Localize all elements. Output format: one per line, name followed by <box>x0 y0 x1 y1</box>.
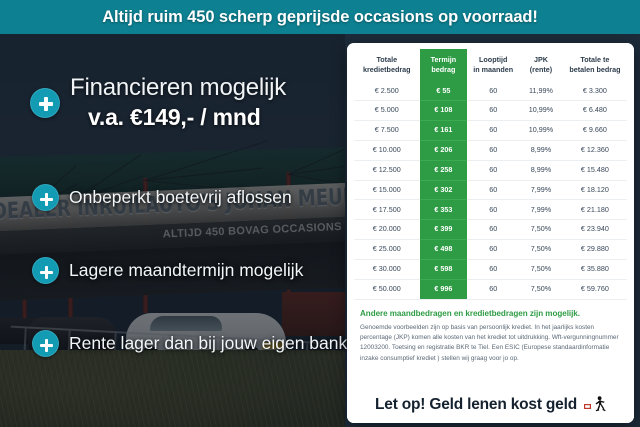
cell-totaal: € 23.940 <box>563 220 627 240</box>
table-row: € 7.500€ 1616010,99%€ 9.660 <box>354 121 627 141</box>
table-row: € 5.000€ 1086010,99%€ 6.480 <box>354 101 627 121</box>
cell-looptijd: 60 <box>467 240 519 260</box>
table-row: € 25.000€ 498607,50%€ 29.880 <box>354 240 627 260</box>
cell-looptijd: 60 <box>467 81 519 100</box>
cell-krediet: € 30.000 <box>354 259 420 279</box>
table-row: € 30.000€ 598607,50%€ 35.880 <box>354 259 627 279</box>
cell-jpk: 7,50% <box>519 279 563 299</box>
advertisement-banner: Altijd ruim 450 scherp geprijsde occasio… <box>0 0 640 427</box>
feature-bullet-label: Rente lager dan bij jouw eigen bank <box>69 333 347 354</box>
cell-krediet: € 2.500 <box>354 81 420 100</box>
loan-table: Totale kredietbedrag Termijn bedrag Loop… <box>354 49 627 300</box>
cell-krediet: € 50.000 <box>354 279 420 299</box>
cell-termijn: € 353 <box>420 200 468 220</box>
cell-jpk: 7,50% <box>519 259 563 279</box>
feature-bullet-list: Financieren mogelijk v.a. €149,- / mnd O… <box>0 34 350 427</box>
col-header-totaal: Totale te betalen bedrag <box>563 49 627 81</box>
cell-krediet: € 25.000 <box>354 240 420 260</box>
feature-bullet-label: Lagere maandtermijn mogelijk <box>69 260 303 281</box>
feature-bullet-item: Lagere maandtermijn mogelijk <box>32 257 303 284</box>
cell-termijn: € 258 <box>420 160 468 180</box>
cell-termijn: € 498 <box>420 240 468 260</box>
cell-looptijd: 60 <box>467 200 519 220</box>
cell-looptijd: 60 <box>467 121 519 141</box>
cell-krediet: € 7.500 <box>354 121 420 141</box>
cell-jpk: 7,50% <box>519 220 563 240</box>
walking-person-with-money-icon <box>584 396 606 414</box>
col-header-line: JPK <box>534 55 548 64</box>
plus-icon <box>32 184 59 211</box>
table-row: € 2.500€ 556011,99%€ 3.300 <box>354 81 627 100</box>
cell-jpk: 8,99% <box>519 140 563 160</box>
cell-termijn: € 302 <box>420 180 468 200</box>
cell-termijn: € 108 <box>420 101 468 121</box>
feature-headline-lines: Financieren mogelijk v.a. €149,- / mnd <box>70 74 286 131</box>
cell-looptijd: 60 <box>467 220 519 240</box>
cell-krediet: € 20.000 <box>354 220 420 240</box>
feature-headline-line2: v.a. €149,- / mnd <box>88 104 286 131</box>
loan-table-header-row: Totale kredietbedrag Termijn bedrag Loop… <box>354 49 627 81</box>
cell-looptijd: 60 <box>467 101 519 121</box>
cell-jpk: 8,99% <box>519 160 563 180</box>
col-header-line: kredietbedrag <box>363 65 411 74</box>
cell-termijn: € 55 <box>420 81 468 100</box>
col-header-line: Totale te <box>580 55 609 64</box>
table-row: € 12.500€ 258608,99%€ 15.480 <box>354 160 627 180</box>
cell-looptijd: 60 <box>467 279 519 299</box>
cell-jpk: 7,99% <box>519 180 563 200</box>
promo-banner: Altijd ruim 450 scherp geprijsde occasio… <box>0 0 640 34</box>
table-row: € 15.000€ 302607,99%€ 18.120 <box>354 180 627 200</box>
cell-krediet: € 12.500 <box>354 160 420 180</box>
table-row: € 50.000€ 996607,50%€ 59.760 <box>354 279 627 299</box>
cell-jpk: 10,99% <box>519 101 563 121</box>
cell-termijn: € 161 <box>420 121 468 141</box>
feature-bullet-label: Onbeperkt boetevrij aflossen <box>69 187 292 208</box>
cell-totaal: € 15.480 <box>563 160 627 180</box>
feature-headline: Financieren mogelijk v.a. €149,- / mnd <box>30 74 286 131</box>
plus-icon <box>32 330 59 357</box>
col-header-line: bedrag <box>431 65 455 74</box>
table-row: € 10.000€ 206608,99%€ 12.360 <box>354 140 627 160</box>
col-header-line: Termijn <box>431 55 456 64</box>
col-header-krediet: Totale kredietbedrag <box>354 49 420 81</box>
cell-looptijd: 60 <box>467 140 519 160</box>
cell-krediet: € 17.500 <box>354 200 420 220</box>
plus-icon <box>30 88 60 118</box>
legal-warning-text: Let op! Geld lenen kost geld <box>375 396 577 414</box>
cell-krediet: € 5.000 <box>354 101 420 121</box>
loan-table-wrapper: Totale kredietbedrag Termijn bedrag Loop… <box>347 43 634 300</box>
feature-bullet-item: Rente lager dan bij jouw eigen bank <box>32 330 347 357</box>
cell-termijn: € 399 <box>420 220 468 240</box>
feature-headline-line1: Financieren mogelijk <box>70 74 286 102</box>
plus-icon <box>32 257 59 284</box>
col-header-line: in maanden <box>473 65 513 74</box>
loan-info-card: Totale kredietbedrag Termijn bedrag Loop… <box>347 43 634 423</box>
footer-heading: Andere maandbedragen en kredietbedragen … <box>360 309 621 318</box>
cell-totaal: € 6.480 <box>563 101 627 121</box>
cell-totaal: € 21.180 <box>563 200 627 220</box>
cell-termijn: € 206 <box>420 140 468 160</box>
col-header-jpk: JPK (rente) <box>519 49 563 81</box>
cell-jpk: 10,99% <box>519 121 563 141</box>
card-footer: Andere maandbedragen en kredietbedragen … <box>347 300 634 365</box>
cell-totaal: € 12.360 <box>563 140 627 160</box>
cell-totaal: € 59.760 <box>563 279 627 299</box>
cell-jpk: 11,99% <box>519 81 563 100</box>
cell-termijn: € 996 <box>420 279 468 299</box>
cell-jpk: 7,50% <box>519 240 563 260</box>
loan-table-body: € 2.500€ 556011,99%€ 3.300€ 5.000€ 10860… <box>354 81 627 299</box>
cell-krediet: € 10.000 <box>354 140 420 160</box>
col-header-looptijd: Looptijd in maanden <box>467 49 519 81</box>
promo-banner-text: Altijd ruim 450 scherp geprijsde occasio… <box>102 8 538 27</box>
col-header-line: Totale <box>376 55 397 64</box>
cell-krediet: € 15.000 <box>354 180 420 200</box>
col-header-termijn: Termijn bedrag <box>420 49 468 81</box>
cell-looptijd: 60 <box>467 259 519 279</box>
cell-jpk: 7,99% <box>519 200 563 220</box>
legal-warning-bar: Let op! Geld lenen kost geld <box>347 390 634 423</box>
cell-totaal: € 35.880 <box>563 259 627 279</box>
cell-totaal: € 9.660 <box>563 121 627 141</box>
cell-looptijd: 60 <box>467 160 519 180</box>
table-row: € 20.000€ 399607,50%€ 23.940 <box>354 220 627 240</box>
cell-looptijd: 60 <box>467 180 519 200</box>
table-row: € 17.500€ 353607,99%€ 21.180 <box>354 200 627 220</box>
col-header-line: (rente) <box>530 65 552 74</box>
col-header-line: Looptijd <box>479 55 507 64</box>
col-header-line: betalen bedrag <box>569 65 620 74</box>
cell-totaal: € 3.300 <box>563 81 627 100</box>
loan-table-head: Totale kredietbedrag Termijn bedrag Loop… <box>354 49 627 81</box>
feature-bullet-item: Onbeperkt boetevrij aflossen <box>32 184 292 211</box>
cell-totaal: € 29.880 <box>563 240 627 260</box>
footer-body-text: Genoemde voorbeelden zijn op basis van p… <box>360 323 621 365</box>
cell-totaal: € 18.120 <box>563 180 627 200</box>
cell-termijn: € 598 <box>420 259 468 279</box>
